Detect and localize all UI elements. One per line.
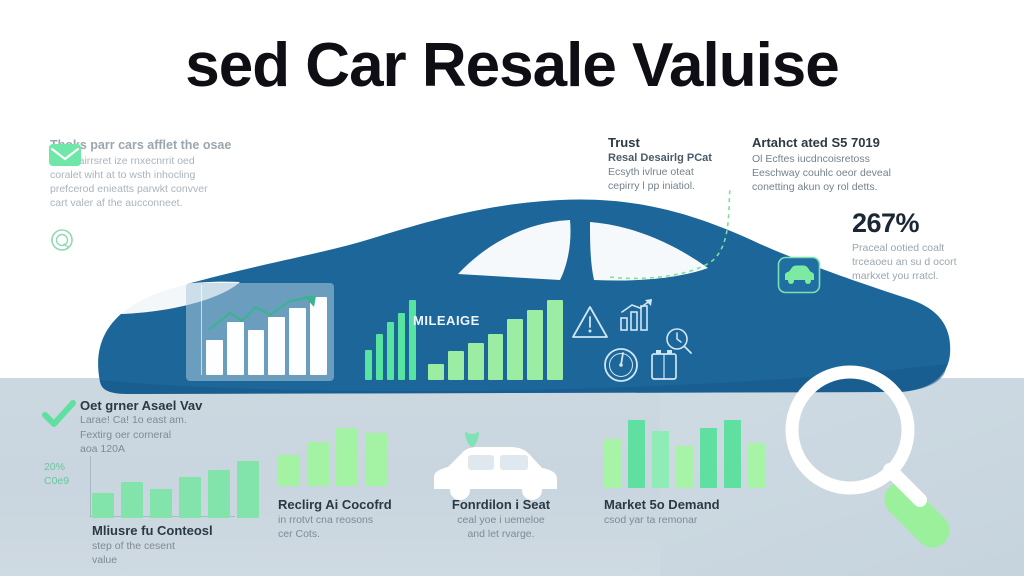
speedometer-icon — [602, 346, 640, 389]
stat-line2: trceaoeu an su d ocort — [852, 255, 1022, 269]
warning-triangle-icon — [570, 304, 610, 345]
bc2-cap1: in rrotvt cna reosons — [278, 513, 392, 528]
trust-line2: cepirry l pp iniatiol. — [608, 179, 748, 193]
left-line3: coralet wiht at to wsth inhocling — [50, 168, 275, 182]
mileage-bars-large — [428, 300, 563, 380]
magnifier-icon — [782, 358, 982, 563]
stat-line1: Praceal ootied coalt — [852, 241, 1022, 255]
bc4-cap1: csod yar ta remonar — [604, 513, 720, 528]
infographic-poster: sed Car Resale Valuise Tboks parr cars a… — [0, 0, 1024, 576]
left-head: Tboks parr cars afflet the osae — [50, 138, 275, 152]
left-line5: cart valer af the aucconneet. — [50, 196, 275, 210]
trust-head: Trust — [608, 135, 748, 150]
stat-line3: markxet you rratcl. — [852, 269, 1022, 283]
check-icon — [42, 400, 76, 435]
stat-value: 267% — [852, 208, 1022, 239]
bc1-sub1: Larae! Ca! 1o east am. — [80, 413, 280, 428]
refresh-circle-icon — [50, 228, 74, 257]
bc1-axis-label-2: C0e9 — [44, 474, 69, 488]
panel-axis — [201, 285, 202, 375]
bc1-title: Oet grner Asael Vav — [80, 398, 280, 413]
bc1-sub3: aoa 120A — [80, 442, 280, 457]
trust-line1: Ecsyth ivlrue oteat — [608, 165, 748, 179]
bc1-axis-label-1: 20% — [44, 460, 69, 474]
bc3-caption: Fonrdilon i Seat ceal yoe i uemeloe and … — [416, 498, 586, 542]
page-title: sed Car Resale Valuise — [0, 30, 1024, 101]
mileage-bars-small — [365, 300, 423, 380]
bottom-card-asset-value: Oet grner Asael Vav Larae! Ca! 1o east a… — [80, 398, 280, 457]
text-block-left: Tboks parr cars afflet the osae cean tai… — [50, 138, 275, 210]
text-block-market: Artahct ated S5 7019 Ol Ecftes iucdncois… — [752, 135, 952, 194]
asset-value-bars — [92, 456, 259, 518]
bc1-sub2: Fextirg oer corneral — [80, 428, 280, 443]
bc1-cap1: Mliusre fu Conteosl — [92, 524, 213, 539]
stat-block: 267% Praceal ootied coalt trceaoeu an su… — [852, 208, 1022, 283]
bc1-vertical-axis — [90, 456, 91, 517]
market-demand-bars — [604, 420, 765, 488]
left-line2: cean tairrsret ize rnxecnrrit oed — [50, 154, 275, 168]
car-panel-chart — [186, 283, 334, 381]
mileage-label: MILEAIGE — [413, 313, 480, 328]
icon-cluster — [570, 298, 695, 388]
bc2-title: Reclirg Ai Cocofrd — [278, 498, 392, 513]
market-line2: Eeschway couhlc oeor deveal — [752, 166, 952, 180]
car-badge-icon — [777, 256, 821, 299]
envelope-icon — [48, 142, 82, 173]
bc2-caption: Reclirg Ai Cocofrd in rrotvt cna reosons… — [278, 498, 392, 542]
trust-sub: Resal Desairlg PCat — [608, 152, 748, 164]
bc1-caption: Mliusre fu Conteosl step of the cesent v… — [92, 524, 213, 568]
bc2-cap2: cer Cots. — [278, 527, 392, 542]
market-line1: Ol Ecftes iucdncoisretoss — [752, 152, 952, 166]
battery-icon — [648, 348, 680, 387]
left-line4: prefcerod enieatts parwkt convver — [50, 182, 275, 196]
bc3-cap2: and let rvarge. — [416, 527, 586, 542]
bc1-axis-labels: 20% C0e9 — [44, 460, 69, 488]
bc4-title: Market 5o Demand — [604, 498, 720, 513]
reclirg-bars — [278, 426, 387, 486]
market-head: Artahct ated S5 7019 — [752, 135, 952, 150]
text-block-trust: Trust Resal Desairlg PCat Ecsyth ivlrue … — [608, 135, 748, 193]
bc1-cap2: step of the cesent — [92, 539, 213, 554]
bc4-caption: Market 5o Demand csod yar ta remonar — [604, 498, 720, 527]
bc3-title: Fonrdilon i Seat — [416, 498, 586, 513]
bc3-cap1: ceal yoe i uemeloe — [416, 513, 586, 528]
bc1-cap3: value — [92, 553, 213, 568]
market-line3: conetting akun oy rol detts. — [752, 180, 952, 194]
trend-arrow-icon — [208, 295, 326, 337]
bar-chart-growth-icon — [618, 298, 656, 337]
